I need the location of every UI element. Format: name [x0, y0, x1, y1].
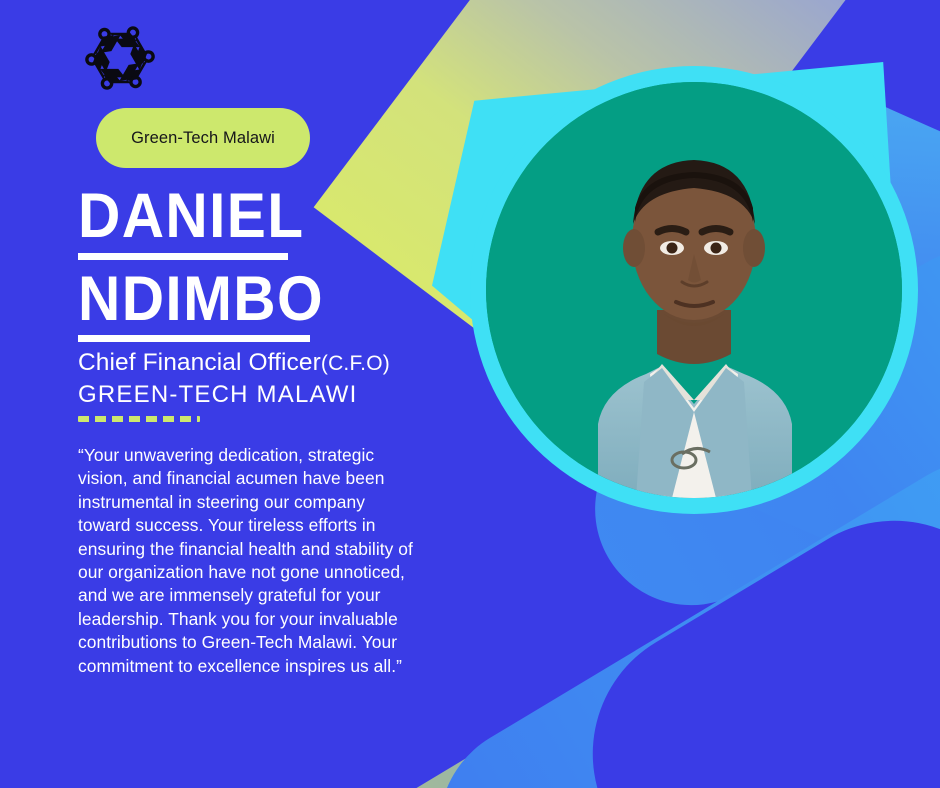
role-abbreviation: (C.F.O)	[321, 352, 390, 375]
company-badge-label: Green-Tech Malawi	[131, 129, 275, 148]
appreciation-poster: Green-Tech Malawi DANIEL NDIMBO Chief Fi…	[0, 0, 940, 788]
role-title-row: Chief Financial Officer(C.F.O)	[78, 348, 478, 378]
hex-circuit-logo-svg	[78, 16, 162, 100]
green-tech-hex-logo-icon	[78, 16, 162, 100]
dashed-accent-rule	[78, 416, 200, 422]
company-badge[interactable]: Green-Tech Malawi	[96, 108, 310, 168]
honoree-role-block: Chief Financial Officer(C.F.O) GREEN-TEC…	[78, 348, 478, 422]
name-underline-1	[78, 253, 288, 260]
organization-name: GREEN-TECH MALAWI	[78, 380, 478, 410]
honoree-first-name: DANIEL	[78, 186, 450, 248]
portrait-illustration	[486, 82, 902, 498]
honoree-name-block: DANIEL NDIMBO	[78, 186, 478, 351]
appreciation-quote: “Your unwavering dedication, strategic v…	[78, 444, 418, 678]
honoree-last-name: NDIMBO	[78, 269, 450, 331]
corner-blue-overlay	[544, 472, 940, 788]
portrait-photo	[470, 66, 918, 514]
name-underline-2	[78, 335, 310, 342]
portrait-disc	[486, 82, 902, 498]
role-title: Chief Financial Officer	[78, 349, 321, 376]
portrait-clip	[486, 82, 902, 498]
